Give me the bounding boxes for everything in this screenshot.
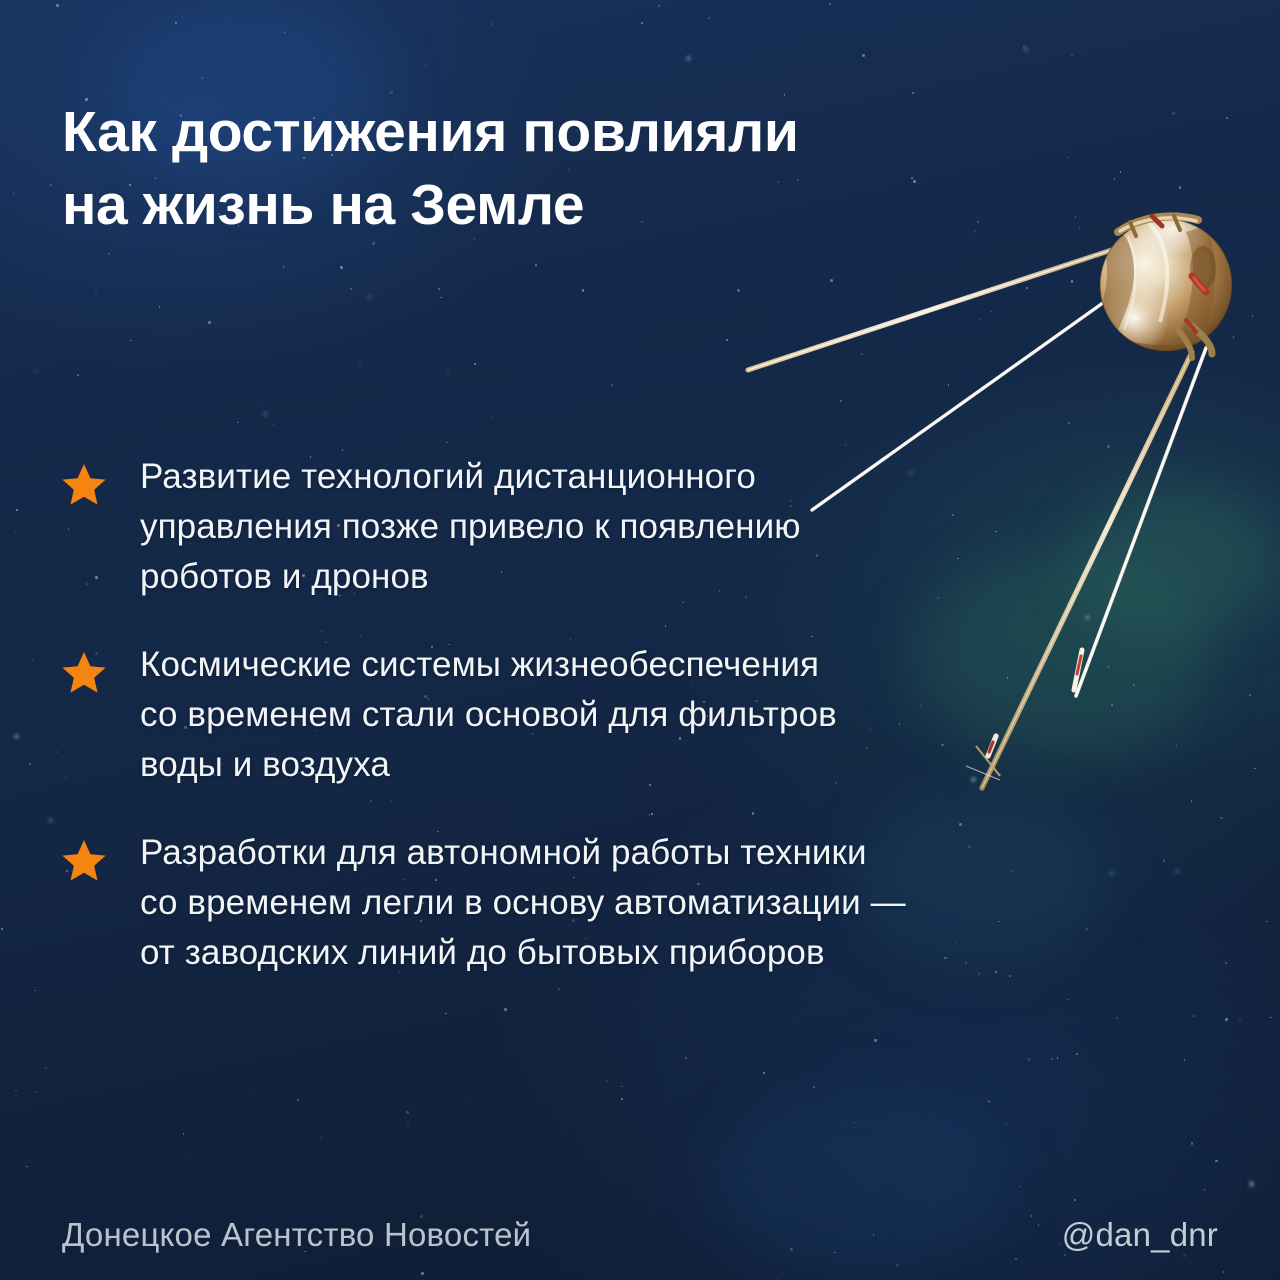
page-title: Как достижения повлияли на жизнь на Земл… [62,96,1022,242]
infographic-card: Как достижения повлияли на жизнь на Земл… [0,0,1280,1280]
list-item: Развитие технологий дистанционного управ… [62,452,1072,602]
list-item-text: Развитие технологий дистанционного управ… [140,452,1072,602]
list-item-text: Разработки для автономной работы техники… [140,828,1072,978]
star-icon [62,651,106,693]
social-handle: @dan_dnr [1062,1216,1218,1254]
star-icon [62,839,106,881]
list-item-text: Космические системы жизнеобеспечения со … [140,640,1072,790]
list-item: Космические системы жизнеобеспечения со … [62,640,1072,790]
list-item: Разработки для автономной работы техники… [62,828,1072,978]
footer: Донецкое Агентство Новостей @dan_dnr [62,1216,1218,1254]
benefits-list: Развитие технологий дистанционного управ… [62,452,1072,978]
star-icon [62,463,106,505]
agency-name: Донецкое Агентство Новостей [62,1216,531,1254]
